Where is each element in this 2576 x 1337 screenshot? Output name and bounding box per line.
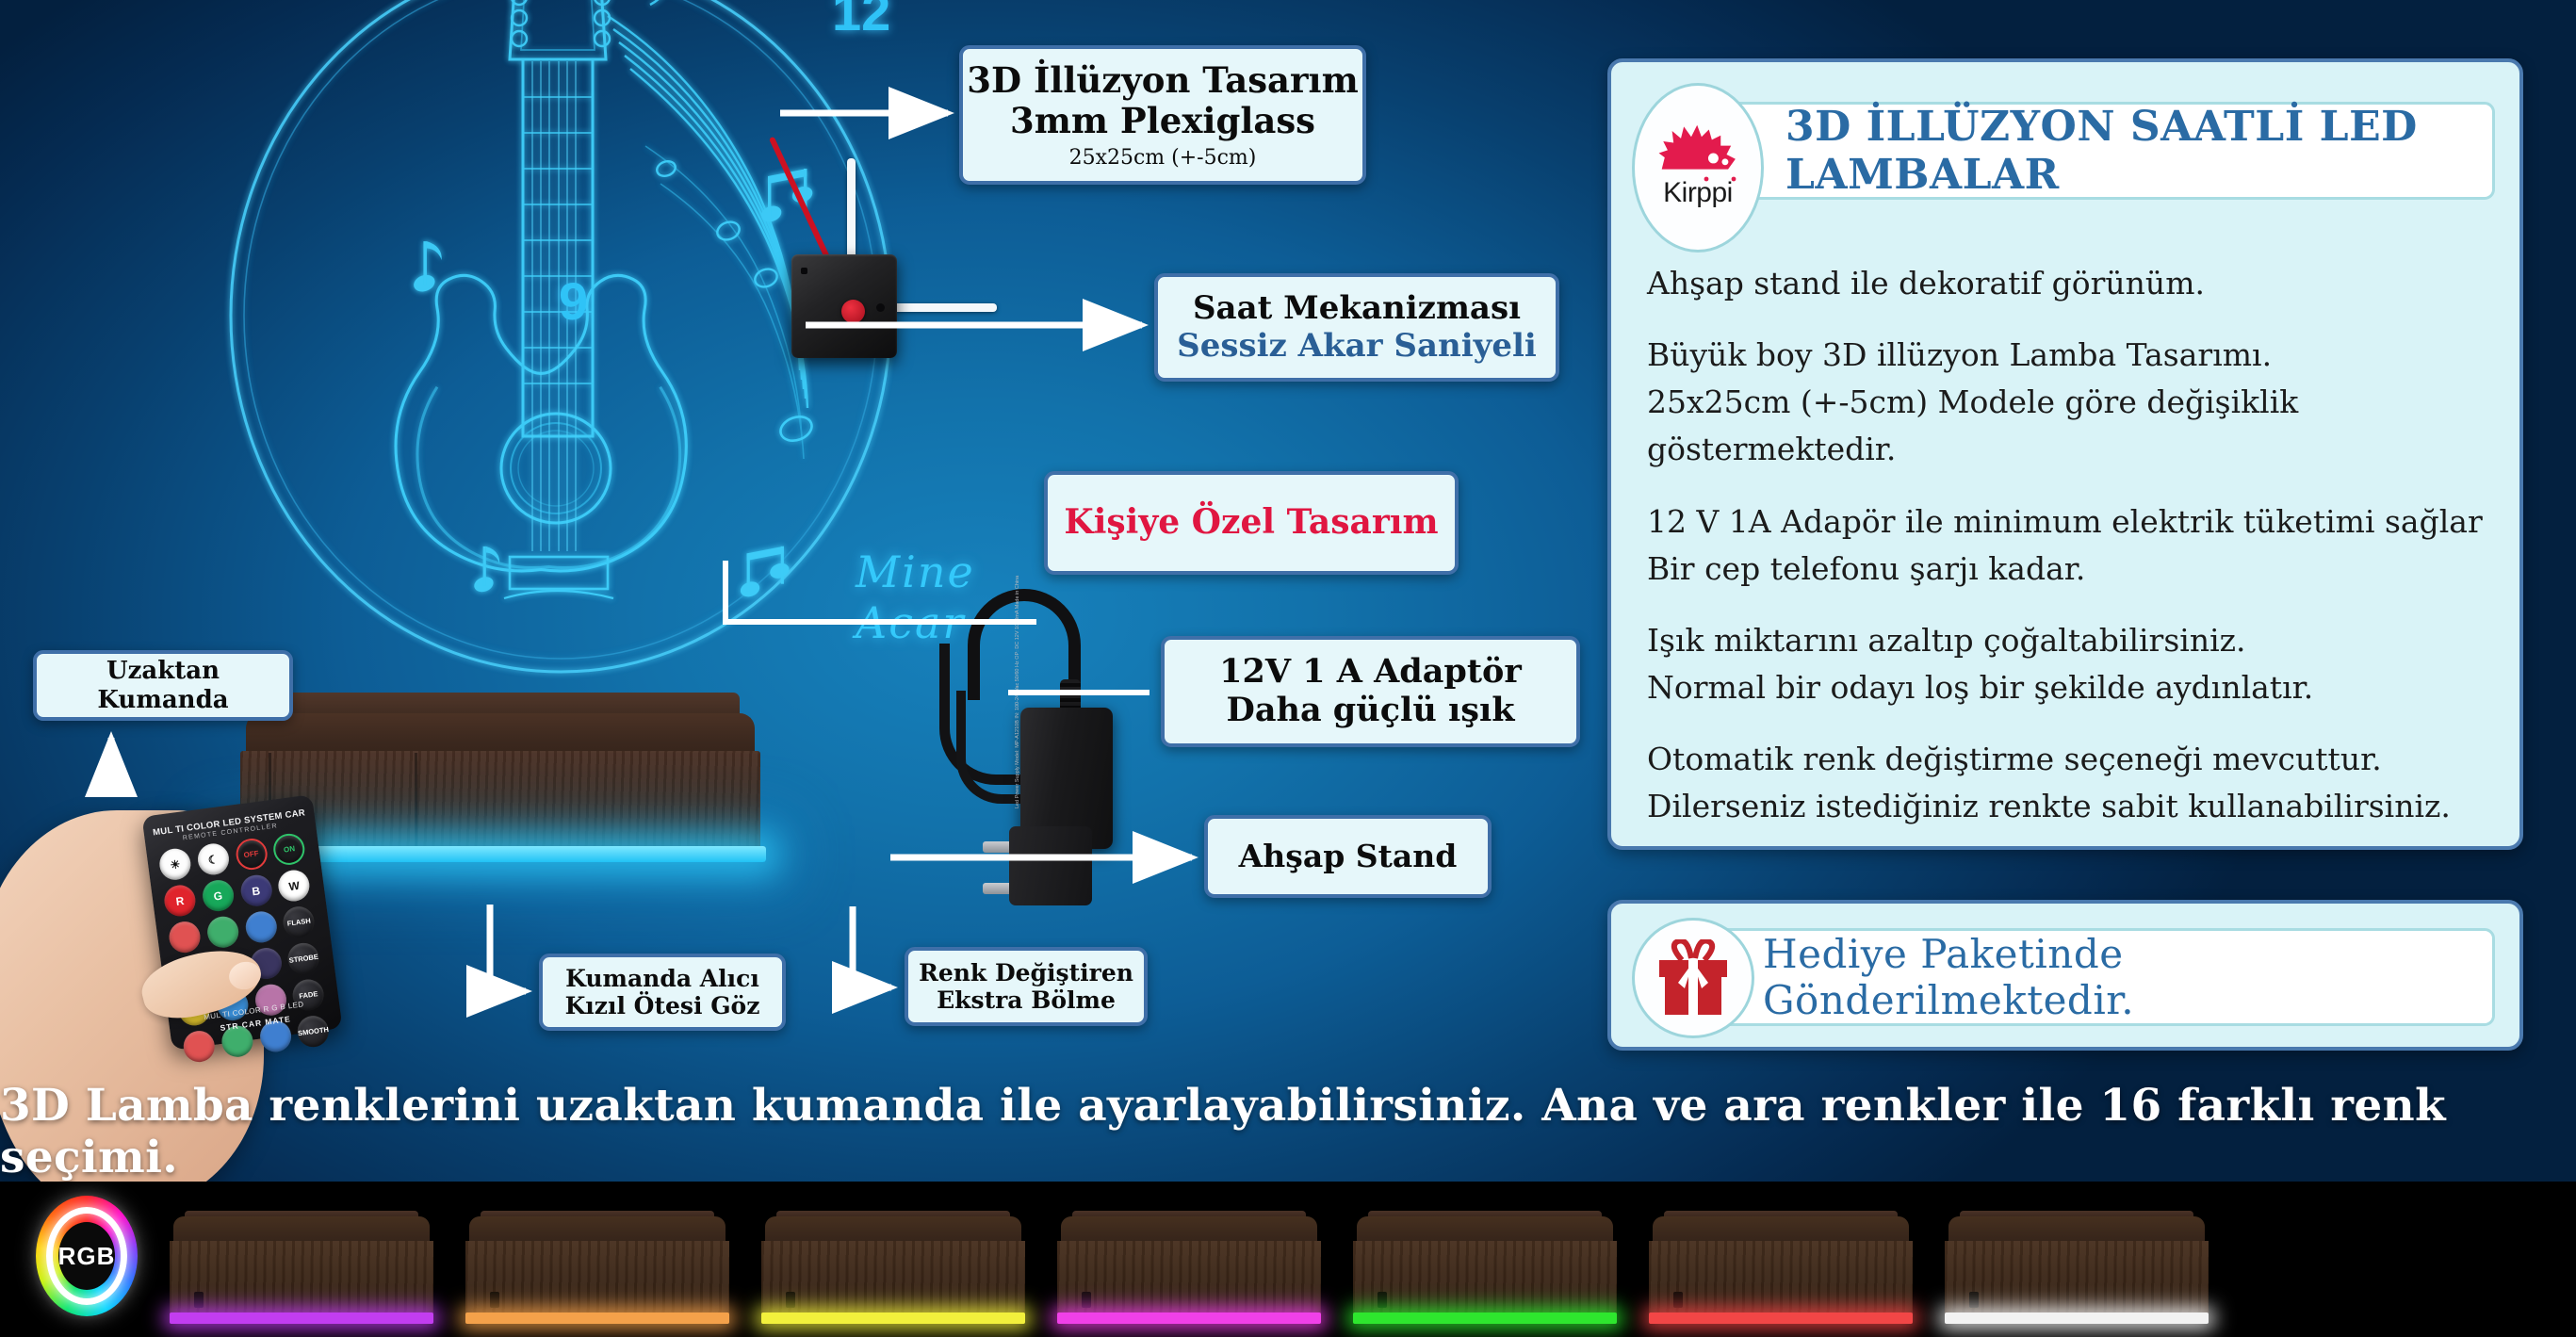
remote-mode-button-strobe[interactable]: STROBE [286, 941, 321, 976]
swatch-lid [1653, 1216, 1909, 1243]
swatch-led-white [1945, 1313, 2209, 1324]
remote-mode-button-flash[interactable]: FLASH [282, 905, 317, 939]
callout-remote-control-label: Uzaktan Kumanda [37, 657, 289, 713]
callout-color-compartment: Renk Değiştiren Ekstra Bölme [905, 947, 1148, 1026]
remote-preset-color-2[interactable] [205, 915, 240, 950]
svg-text:Kirppi: Kirppi [1663, 177, 1733, 208]
swatch-sensor [786, 1292, 795, 1308]
swatch-lid [1061, 1216, 1317, 1243]
panel-body-text: Ahşap stand ile dekoratif görünüm. Büyük… [1647, 260, 2487, 831]
callout-plexiglass-size: 25x25cm (+-5cm) [1069, 146, 1257, 171]
swatch-lid [1357, 1216, 1613, 1243]
callout-color-compartment-line2: Ekstra Bölme [937, 986, 1116, 1014]
swatch-led-green [1353, 1313, 1617, 1324]
remote-preset-color-1[interactable] [168, 920, 203, 954]
lamp-color-swatch-white [1945, 1211, 2209, 1324]
remote-color-button-r[interactable]: R [162, 883, 197, 918]
swatch-body [1945, 1241, 2209, 1314]
swatch-led-red [1649, 1313, 1913, 1324]
callout-plexiglass-line2: 3mm Plexiglass [1010, 101, 1315, 141]
product-description-panel: 3D İLLÜZYON SAATLİ LED LAMBALAR Kirppi A… [1607, 58, 2523, 850]
paragraph-5: Otomatik renk değiştirme seçeneği mevcut… [1647, 736, 2487, 830]
adapter-spec-label: Led Power Supply Model: MP-A1210B IN: 10… [1014, 746, 1116, 808]
swatch-lid [173, 1216, 430, 1243]
clock-number-12: 12 [832, 0, 890, 42]
swatch-sensor [194, 1292, 204, 1308]
callout-mech-line2: Sessiz Akar Saniyeli [1177, 328, 1537, 365]
swatch-sensor [1082, 1292, 1091, 1308]
lamp-color-swatch-red [1649, 1211, 1913, 1324]
swatch-body [1649, 1241, 1913, 1314]
stand-seam-right [415, 753, 417, 849]
callout-ir-receiver: Kumanda Alıcı Kızıl Ötesi Göz [539, 954, 786, 1031]
callout-adapter: 12V 1 A Adaptör Daha güçlü ışık [1161, 636, 1580, 747]
remote-color-button-b[interactable]: B [238, 873, 273, 908]
gift-box-icon [1655, 939, 1731, 1017]
kirppi-logo: Kirppi [1632, 83, 1764, 253]
lamp-color-swatch-yellow [761, 1211, 1025, 1324]
callout-remote-control: Uzaktan Kumanda [33, 650, 293, 721]
swatch-sensor [490, 1292, 499, 1308]
callout-wooden-stand: Ahşap Stand [1204, 815, 1492, 898]
clock-center-pin [841, 300, 865, 323]
remote-preset-color-3[interactable] [243, 909, 278, 944]
swatch-led-yellow [761, 1313, 1025, 1324]
swatch-lid [1948, 1216, 2205, 1243]
clock-number-9: 9 [559, 270, 588, 332]
lamp-color-swatch-purple [170, 1211, 433, 1324]
lamp-color-swatch-orange [465, 1211, 729, 1324]
gift-logo-oval [1632, 918, 1754, 1038]
callout-clock-mechanism: Saat Mekanizması Sessiz Akar Saniyeli [1154, 273, 1559, 382]
swatch-body [170, 1241, 433, 1314]
swatch-sensor [1673, 1292, 1683, 1308]
swatch-led-magenta [1057, 1313, 1321, 1324]
wooden-stand [240, 693, 760, 860]
callout-color-compartment-line1: Renk Değiştiren [919, 959, 1133, 986]
gift-wrap-panel: Hediye Paketinde Gönderilmektedir. [1607, 900, 2523, 1051]
illusion-plate-artwork: 12 9 Mine Acar [203, 0, 919, 693]
callout-mech-line1: Saat Mekanizması [1193, 290, 1521, 327]
color-swatch-strip: RGB [0, 1182, 2576, 1337]
swatch-body [465, 1241, 729, 1314]
swatch-led-purple [170, 1313, 433, 1324]
swatch-body [1057, 1241, 1321, 1314]
swatch-body [1353, 1241, 1617, 1314]
rgb-badge: RGB [36, 1196, 138, 1316]
infographic-root: 12 9 Mine Acar Led Power Supply Model: M… [0, 0, 2576, 1337]
paragraph-3: 12 V 1A Adapör ile minimum elektrik tüke… [1647, 498, 2487, 593]
hedgehog-icon [1657, 123, 1738, 172]
swatch-body [761, 1241, 1025, 1314]
stand-front-face [240, 751, 760, 849]
remote-color-button-g[interactable]: G [201, 878, 236, 913]
swatch-lid [469, 1216, 726, 1243]
adapter-plug-head [1009, 826, 1092, 905]
remote-on-button[interactable]: ON [272, 832, 307, 867]
callout-ir-receiver-line1: Kumanda Alıcı [565, 965, 759, 992]
remote-brightness-down-button[interactable]: ☾ [196, 841, 231, 876]
remote-off-button[interactable]: OFF [234, 837, 269, 872]
callout-plexiglass-line1: 3D İllüzyon Tasarım [967, 60, 1358, 101]
gift-title-pill: Hediye Paketinde Gönderilmektedir. [1705, 928, 2495, 1026]
lamp-color-swatch-magenta [1057, 1211, 1321, 1324]
callout-wooden-stand-label: Ahşap Stand [1239, 839, 1458, 874]
swatch-sensor [1378, 1292, 1387, 1308]
paragraph-1: Ahşap stand ile dekoratif görünüm. [1647, 260, 2487, 307]
callout-adapter-line1: 12V 1 A Adaptör [1219, 653, 1522, 692]
paragraph-4: Işık miktarını azaltıp çoğaltabilirsiniz… [1647, 617, 2487, 711]
remote-color-button-w[interactable]: W [277, 868, 312, 903]
paragraph-2: Büyük boy 3D illüzyon Lamba Tasarımı. 25… [1647, 332, 2487, 473]
bottom-banner: 3D Lamba renklerini uzaktan kumanda ile … [0, 1082, 2576, 1182]
lamp-color-swatch-green [1353, 1211, 1617, 1324]
callout-custom-design: Kişiye Özel Tasarım [1044, 471, 1459, 575]
power-adapter: Led Power Supply Model: MP-A1210B IN: 10… [919, 589, 1112, 909]
callout-adapter-line2: Daha güçlü ışık [1226, 692, 1514, 730]
rgb-badge-label: RGB [58, 1242, 116, 1271]
swatch-lid [765, 1216, 1021, 1243]
kirppi-wordmark: Kirppi [1649, 172, 1747, 212]
swatch-sensor [1969, 1292, 1979, 1308]
panel-title-pill: 3D İLLÜZYON SAATLİ LED LAMBALAR [1722, 102, 2495, 200]
callout-plexiglass: 3D İllüzyon Tasarım 3mm Plexiglass 25x25… [959, 45, 1366, 185]
rgb-badge-core: RGB [58, 1222, 115, 1290]
swatch-list [138, 1211, 2209, 1337]
callout-ir-receiver-line2: Kızıl Ötesi Göz [565, 992, 760, 1019]
swatch-led-orange [465, 1313, 729, 1324]
callout-custom-design-label: Kişiye Özel Tasarım [1064, 503, 1438, 543]
remote-brightness-up-button[interactable]: ☀ [157, 847, 192, 882]
